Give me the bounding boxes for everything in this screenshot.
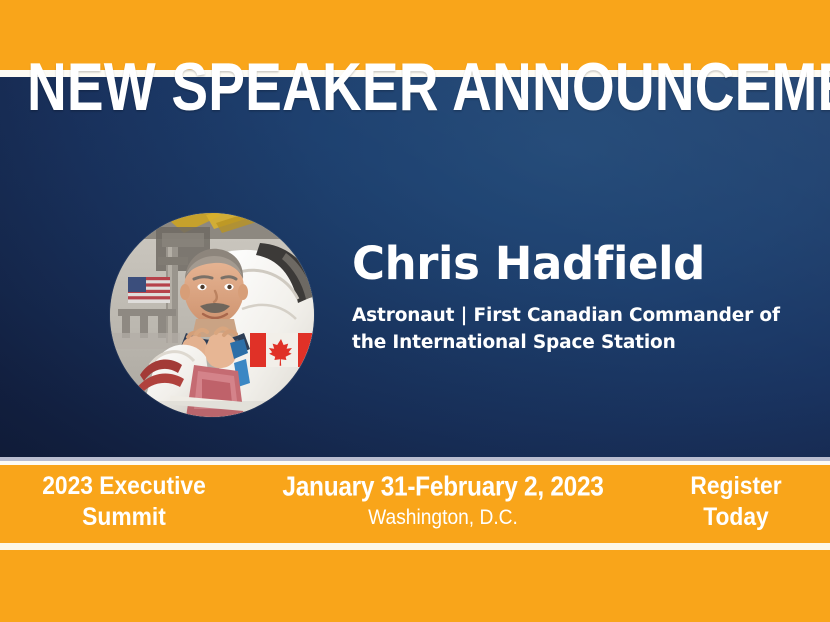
speaker-info: Chris Hadfield Astronaut | First Canadia… [352,238,812,356]
event-dates: January 31-February 2, 2023 [260,468,627,504]
speaker-announcement-banner: NEW SPEAKER ANNOUNCEMENT! [0,0,830,622]
event-name-line-2: Summit [20,502,229,533]
event-date-location: January 31-February 2, 2023 Washington, … [248,468,638,530]
event-city: Washington, D.C. [256,504,630,531]
bottom-orange-band [0,550,830,622]
speaker-title: Astronaut | First Canadian Commander of … [352,302,797,356]
register-cta-line-1: Register [652,471,819,502]
astronaut-portrait-illustration [110,213,314,417]
bottom-white-divider [0,543,830,550]
event-name-line-1: 2023 Executive [20,471,229,502]
event-name: 2023 Executive Summit [20,471,229,533]
speaker-title-line-1: Astronaut | First Canadian Commander of [352,305,780,326]
register-cta-line-2: Today [652,502,819,533]
page-title: NEW SPEAKER ANNOUNCEMENT! [27,53,694,121]
speaker-name: Chris Hadfield [352,238,812,290]
register-cta[interactable]: Register Today [652,471,819,533]
avatar [110,213,314,417]
speaker-title-line-2: the International Space Station [352,332,676,353]
